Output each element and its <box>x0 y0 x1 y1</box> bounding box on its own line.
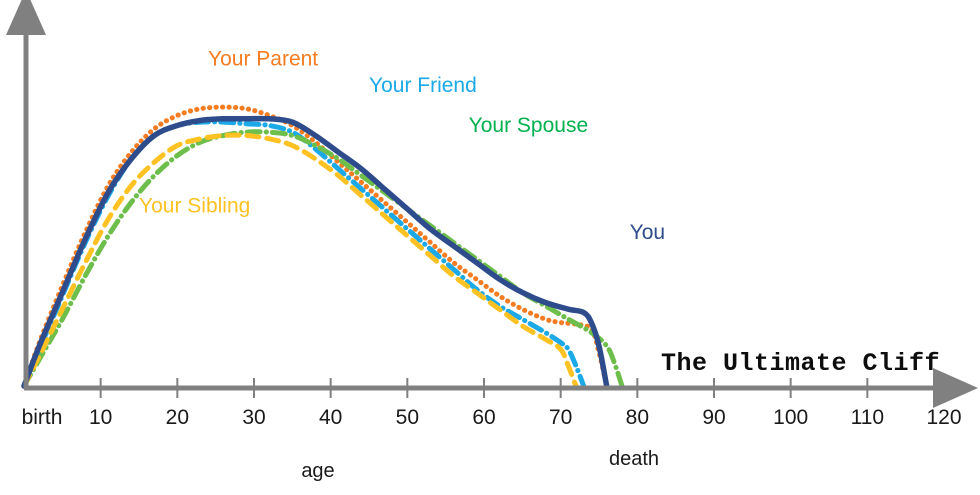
x-tick-label-100: 100 <box>773 406 808 429</box>
lifetime-relationships-chart: birth102030405060708090100110120 Your Pa… <box>0 0 980 495</box>
x-tick-label-birth: birth <box>22 406 63 429</box>
ultimate-cliff-annotation: The Ultimate Cliff <box>661 349 940 378</box>
series-label-your-spouse: Your Spouse <box>469 114 588 137</box>
series-line-your-sibling <box>24 135 576 386</box>
series-line-your-friend <box>24 122 584 386</box>
x-tick-label-30: 30 <box>242 406 265 429</box>
x-axis-tick-labels: birth102030405060708090100110120 <box>22 406 962 429</box>
series-line-your-spouse <box>24 132 622 386</box>
series-label-you: You <box>630 221 665 244</box>
chart-canvas: birth102030405060708090100110120 Your Pa… <box>0 0 980 495</box>
x-axis-title: age <box>301 460 334 482</box>
x-tick-label-80: 80 <box>626 406 649 429</box>
x-tick-label-110: 110 <box>851 406 884 429</box>
x-tick-label-10: 10 <box>89 406 112 429</box>
x-tick-label-120: 120 <box>926 406 961 429</box>
x-tick-label-60: 60 <box>472 406 495 429</box>
series-label-your-sibling: Your Sibling <box>139 194 250 217</box>
x-tick-label-70: 70 <box>549 406 572 429</box>
death-annotation: death <box>609 448 659 470</box>
x-tick-label-50: 50 <box>396 406 419 429</box>
series-layer <box>24 107 622 386</box>
x-tick-label-40: 40 <box>319 406 342 429</box>
x-tick-label-20: 20 <box>166 406 189 429</box>
series-label-your-parent: Your Parent <box>208 47 318 70</box>
x-tick-label-90: 90 <box>702 406 725 429</box>
series-label-your-friend: Your Friend <box>369 74 477 97</box>
